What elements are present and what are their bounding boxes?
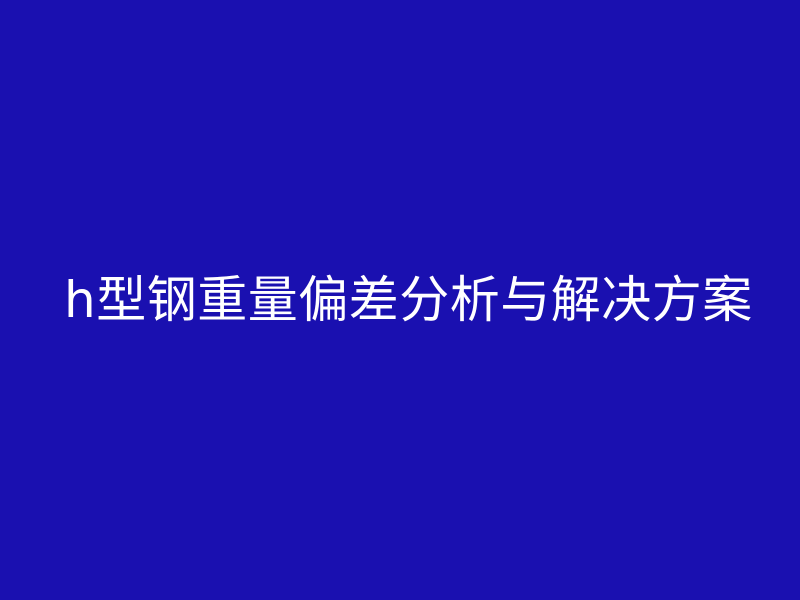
title-block: h型钢重量偏差分析与解决方案 (0, 0, 800, 600)
slide-canvas: h型钢重量偏差分析与解决方案 (0, 0, 800, 600)
page-title: h型钢重量偏差分析与解决方案 (0, 273, 753, 328)
